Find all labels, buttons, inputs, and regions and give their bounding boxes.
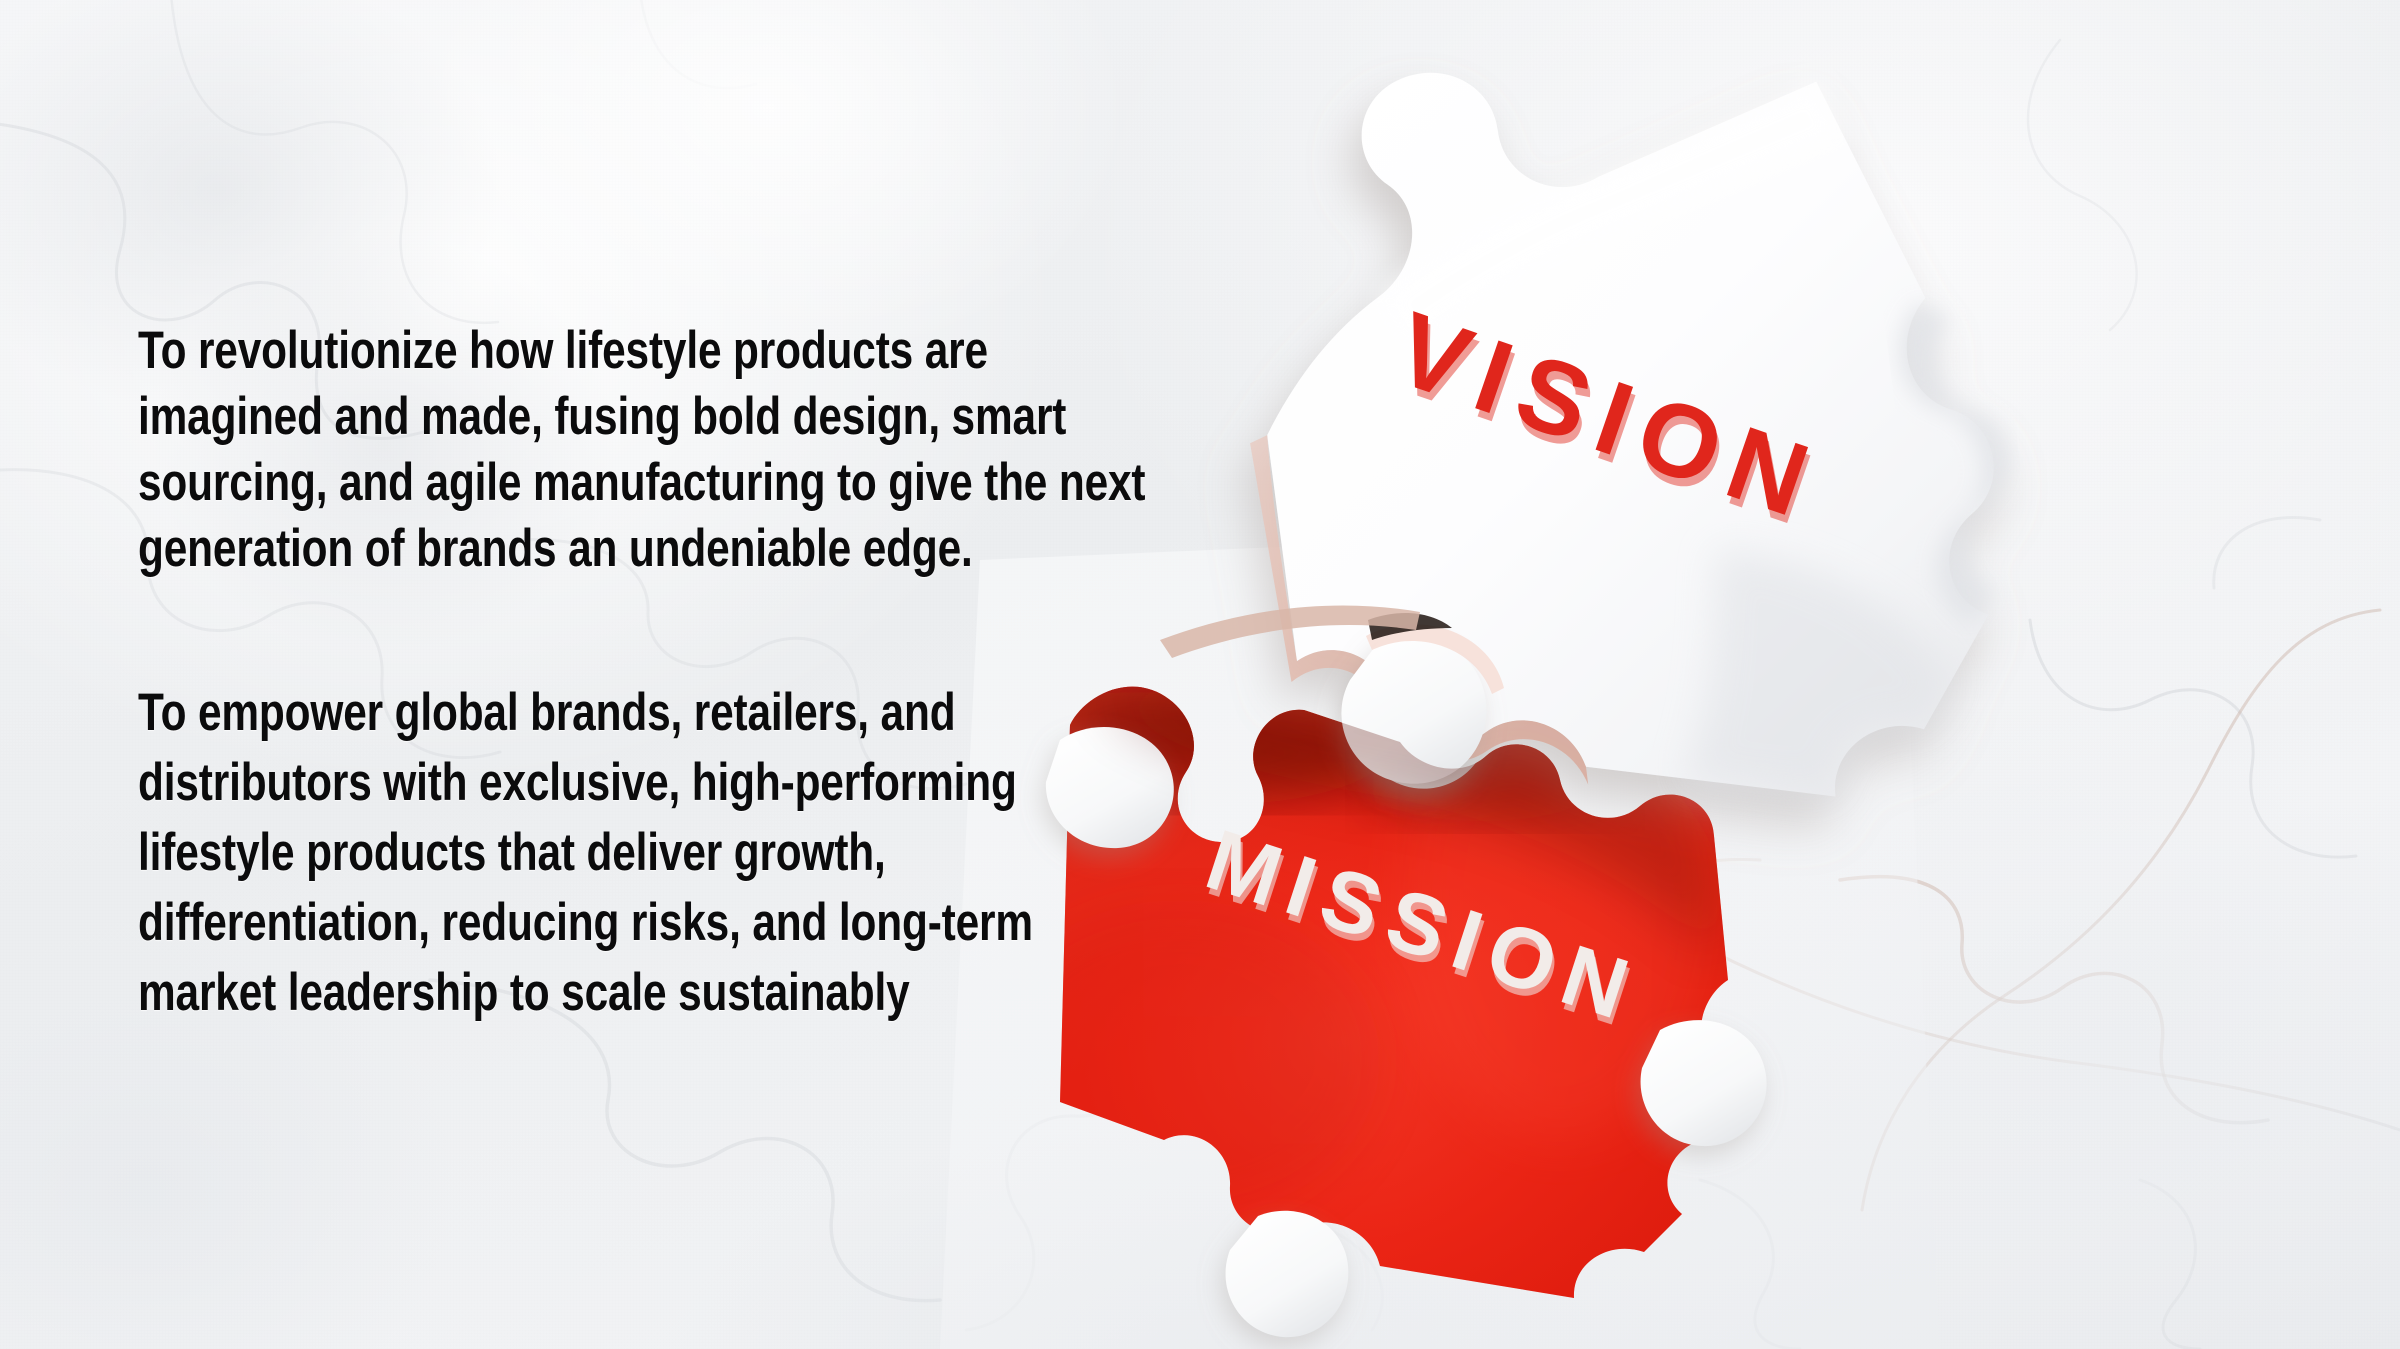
statements-column: To revolutionize how lifestyle products … (138, 318, 1218, 1028)
vision-statement-text: To revolutionize how lifestyle products … (138, 318, 1146, 582)
mission-statement-text: To empower global brands, retailers, and… (138, 678, 1146, 1028)
slide-canvas: MISSION MISSION (0, 0, 2400, 1349)
